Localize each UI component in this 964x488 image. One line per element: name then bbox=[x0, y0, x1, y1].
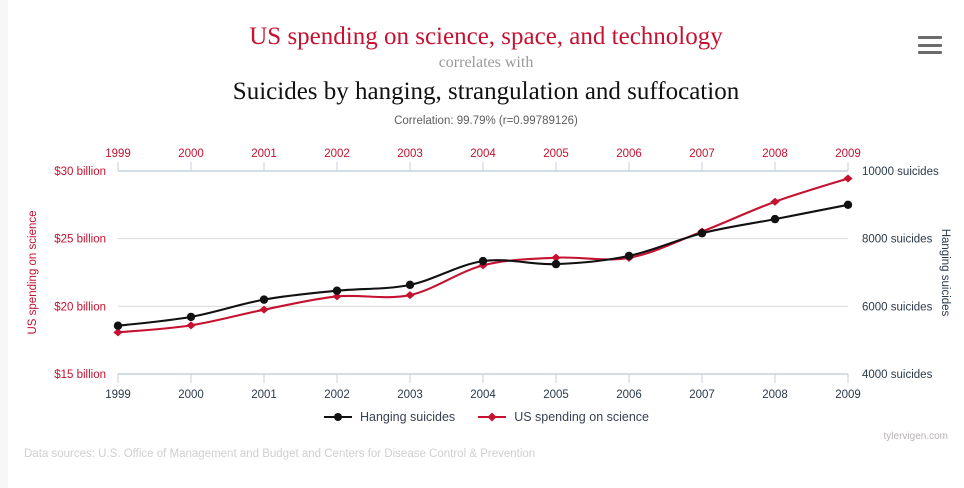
ytick-right-3: 10000 suicides bbox=[862, 166, 939, 178]
legend-item-hanging-suicides[interactable]: Hanging suicides bbox=[323, 410, 455, 424]
data-point-2008[interactable] bbox=[770, 198, 779, 206]
xtick-bottom-2008: 2008 bbox=[762, 389, 788, 400]
data-point-2005[interactable] bbox=[552, 260, 560, 268]
chart-title-block: US spending on science, space, and techn… bbox=[8, 24, 964, 127]
xtick-bottom-2009: 2009 bbox=[835, 389, 861, 400]
data-point-2001[interactable] bbox=[259, 306, 268, 314]
ytick-right-2: 8000 suicides bbox=[862, 234, 933, 246]
data-point-2008[interactable] bbox=[771, 215, 779, 223]
data-point-2001[interactable] bbox=[260, 295, 268, 303]
legend-label-us-spending: US spending on science bbox=[514, 410, 649, 424]
data-point-2004[interactable] bbox=[479, 257, 487, 265]
chart-card: US spending on science, space, and techn… bbox=[8, 0, 964, 488]
series-hanging-suicides bbox=[114, 201, 852, 330]
xtick-bottom-2006: 2006 bbox=[616, 389, 642, 400]
legend-marker-circle-icon bbox=[323, 411, 353, 423]
correlation-text: Correlation: 99.79% (r=0.99789126) bbox=[8, 115, 964, 127]
xtick-bottom-2004: 2004 bbox=[470, 389, 496, 400]
title-connector: correlates with bbox=[8, 52, 964, 74]
xtick-bottom-2001: 2001 bbox=[251, 389, 277, 400]
xtick-top-2009: 2009 bbox=[835, 148, 861, 160]
xtick-bottom-1999: 1999 bbox=[105, 389, 131, 400]
xtick-bottom-2000: 2000 bbox=[178, 389, 204, 400]
chart-legend: Hanging suicides US spending on science bbox=[8, 410, 964, 424]
title-primary: US spending on science, space, and techn… bbox=[8, 24, 964, 50]
legend-item-us-spending[interactable]: US spending on science bbox=[477, 410, 649, 424]
data-point-2002[interactable] bbox=[333, 287, 341, 295]
xtick-top-2003: 2003 bbox=[397, 148, 423, 160]
correlation-line-chart: 1999200020012002200320042005200620072008… bbox=[8, 140, 964, 400]
data-point-2000[interactable] bbox=[187, 313, 195, 321]
xtick-top-2000: 2000 bbox=[178, 148, 204, 160]
ytick-right-0: 4000 suicides bbox=[862, 369, 933, 381]
y-axis-label-right: Hanging suicides bbox=[939, 229, 951, 317]
xtick-top-2006: 2006 bbox=[616, 148, 642, 160]
ytick-left-2: $25 billion bbox=[54, 234, 106, 246]
series-us-spending-on-science bbox=[113, 174, 852, 336]
site-credit: tylervigen.com bbox=[884, 431, 948, 442]
ytick-left-1: $20 billion bbox=[54, 301, 106, 313]
legend-label-hanging-suicides: Hanging suicides bbox=[360, 410, 455, 424]
xtick-top-2008: 2008 bbox=[762, 148, 788, 160]
xtick-top-2007: 2007 bbox=[689, 148, 715, 160]
xtick-top-2001: 2001 bbox=[251, 148, 277, 160]
xtick-top-1999: 1999 bbox=[105, 148, 131, 160]
xtick-top-2004: 2004 bbox=[470, 148, 496, 160]
xtick-bottom-2003: 2003 bbox=[397, 389, 423, 400]
xtick-top-2002: 2002 bbox=[324, 148, 350, 160]
data-point-2009[interactable] bbox=[843, 174, 852, 182]
data-point-2003[interactable] bbox=[406, 281, 414, 289]
data-point-2000[interactable] bbox=[186, 321, 195, 329]
ytick-left-0: $15 billion bbox=[54, 369, 106, 381]
title-secondary: Suicides by hanging, strangulation and s… bbox=[8, 78, 964, 107]
data-point-2009[interactable] bbox=[844, 201, 852, 209]
data-sources-text: Data sources: U.S. Office of Management … bbox=[24, 448, 535, 460]
xtick-bottom-2002: 2002 bbox=[324, 389, 350, 400]
legend-marker-diamond-icon bbox=[477, 411, 507, 423]
data-point-2007[interactable] bbox=[698, 229, 706, 237]
data-point-1999[interactable] bbox=[114, 322, 122, 330]
data-point-2006[interactable] bbox=[625, 252, 633, 260]
xtick-bottom-2007: 2007 bbox=[689, 389, 715, 400]
y-axis-label-left: US spending on science bbox=[27, 210, 39, 334]
ytick-left-3: $30 billion bbox=[54, 166, 106, 178]
xtick-bottom-2005: 2005 bbox=[543, 389, 569, 400]
ytick-right-1: 6000 suicides bbox=[862, 301, 933, 313]
data-point-2003[interactable] bbox=[405, 291, 414, 299]
xtick-top-2005: 2005 bbox=[543, 148, 569, 160]
chart-area: 1999200020012002200320042005200620072008… bbox=[8, 140, 964, 400]
